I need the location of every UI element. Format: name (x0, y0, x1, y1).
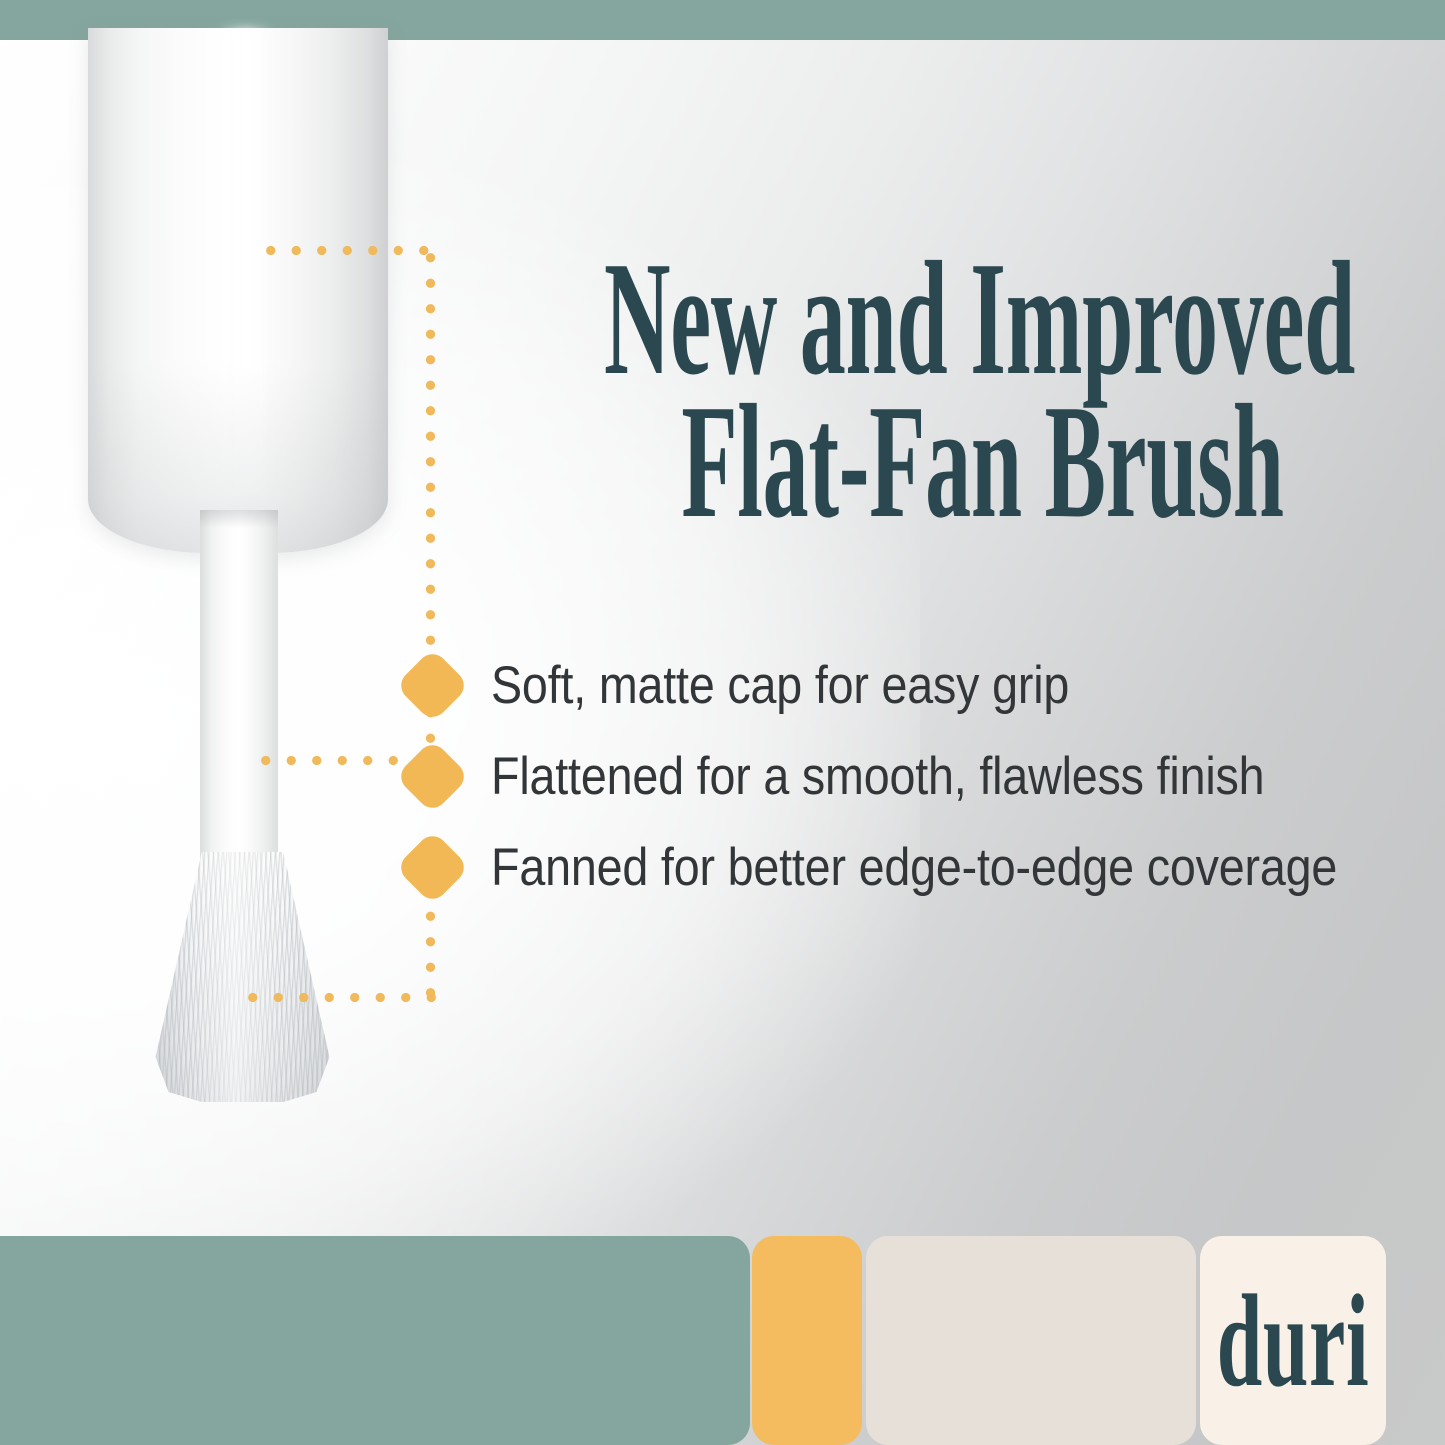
brush-bristles (150, 852, 335, 1102)
diamond-bullet-icon (395, 739, 470, 814)
feature-label: Fanned for better edge-to-edge coverage (491, 841, 1337, 894)
connector-line-cap-horizontal (258, 245, 438, 256)
brush-cap (88, 28, 388, 553)
bristle-shading (150, 852, 335, 1102)
brand-name: duri (1217, 1275, 1370, 1407)
product-marketing-graphic: New and Improved Flat-Fan Brush Soft, ma… (0, 0, 1445, 1445)
product-image (0, 40, 520, 1100)
stem-shadow (200, 510, 278, 528)
footer-block-beige (866, 1236, 1196, 1445)
connector-line-bristle-horizontal (240, 992, 436, 1003)
diamond-bullet-icon (395, 830, 470, 905)
headline-line-1: New and Improved (604, 248, 1361, 391)
feature-label: Soft, matte cap for easy grip (491, 659, 1303, 712)
diamond-bullet-icon (395, 648, 470, 723)
headline-line-2: Flat-Fan Brush (604, 391, 1361, 534)
feature-list: Soft, matte cap for easy grip Flattened … (404, 640, 1414, 913)
feature-label: Flattened for a smooth, flawless finish (491, 750, 1303, 803)
footer-block-green (0, 1236, 750, 1445)
list-item: Flattened for a smooth, flawless finish (404, 731, 1414, 822)
list-item: Fanned for better edge-to-edge coverage (404, 822, 1414, 913)
list-item: Soft, matte cap for easy grip (404, 640, 1414, 731)
brand-logo: duri (1200, 1236, 1386, 1445)
connector-line-spine (425, 245, 436, 665)
brush-stem (200, 510, 278, 865)
footer-block-yellow (752, 1236, 862, 1445)
page-title: New and Improved Flat-Fan Brush (604, 248, 1033, 535)
